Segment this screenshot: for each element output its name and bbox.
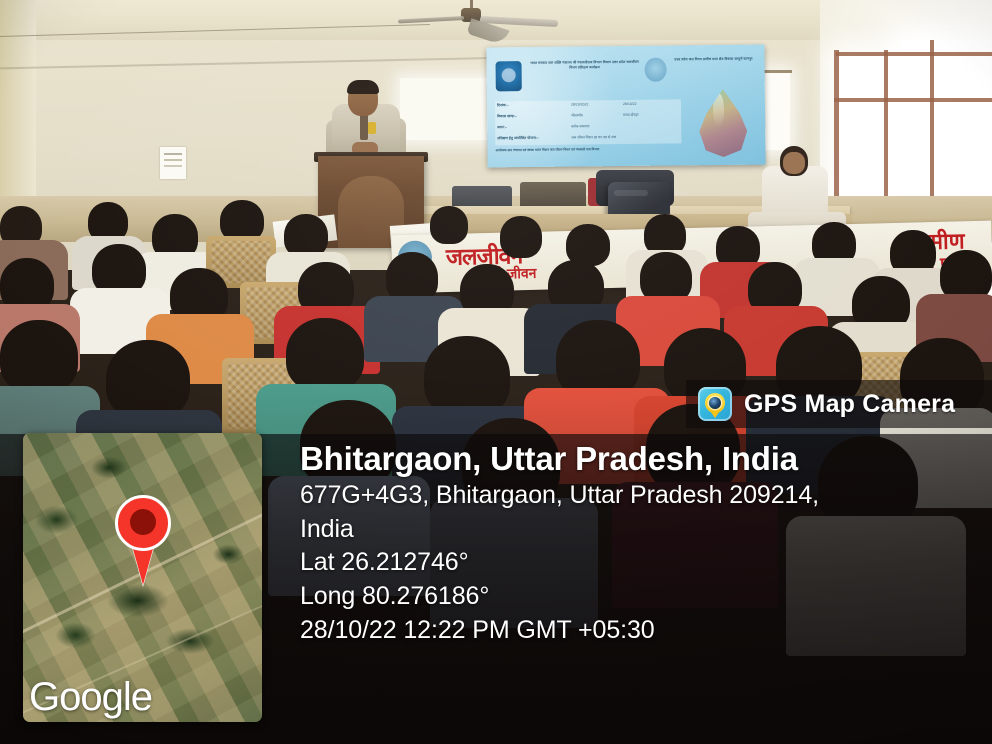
camera-lens-icon [709, 397, 721, 409]
map-pin-icon [115, 495, 171, 551]
address-line-1: 677G+4G3, Bhitargaon, Uttar Pradesh 2092… [300, 479, 980, 513]
water-drop-graphic-icon [697, 89, 750, 158]
speaker-id-badge [368, 122, 376, 134]
gps-map-camera-logo-icon [698, 387, 732, 421]
banner-title-text: भारत सरकार जल शक्ति मंत्रालय जी पंचायतीर… [527, 60, 643, 72]
banner-field-value-0: 28/10/2022 [571, 102, 589, 106]
window-frame [836, 52, 992, 56]
banner-field-label-2: स्थान:– [497, 125, 507, 130]
banner-footer-text: आयोजक ग्राम पंचायत एवं स्वच्छ भारत मिशन … [495, 146, 685, 153]
window [900, 40, 992, 220]
latitude-value: Lat 26.212746° [300, 546, 980, 580]
banner-field-label-1: विकास खण्ड:– [497, 114, 517, 119]
banner-field-value-1: भीतरगाँव [571, 113, 583, 118]
gps-map-camera-brand-bar: GPS Map Camera [686, 380, 992, 428]
timestamp-value: 28/10/22 12:22 PM GMT +05:30 [300, 614, 980, 648]
map-pin-dot [130, 509, 156, 535]
audience-head [0, 320, 78, 394]
speaker-tie [360, 114, 368, 140]
window-frame [834, 98, 992, 102]
window-frame [834, 50, 839, 210]
jal-jeevan-logo-icon [496, 61, 522, 91]
audience-head [106, 340, 190, 420]
banner-field-value2-0: 28/10/22 [623, 102, 637, 106]
window-frame [884, 50, 888, 210]
gps-map-camera-label: GPS Map Camera [744, 390, 955, 419]
government-emblem-icon [644, 58, 666, 82]
place-name: Bhitargaon, Uttar Pradesh, India [300, 440, 980, 479]
address-line-2: India [300, 513, 980, 547]
wall-notice-paper [160, 147, 186, 179]
gps-map-camera-photo: भारत सरकार जल शक्ति मंत्रालय जी पंचायतीर… [0, 0, 992, 744]
longitude-value: Long 80.276186° [300, 580, 980, 614]
speaker-hair [347, 80, 379, 94]
google-attribution: Google [29, 675, 152, 720]
official-face [783, 152, 805, 174]
window-frame [930, 40, 934, 220]
map-thumbnail[interactable]: Google [23, 433, 262, 722]
banner-field-label-3: प्रशिक्षण हेतु आयोजित योजना:– [497, 136, 539, 141]
audience-head [430, 206, 468, 244]
banner-org-text: उत्तर प्रदेश जल निगम ग्रामीण मध्य क्षेत्… [670, 57, 756, 63]
location-text-block: Bhitargaon, Uttar Pradesh, India 677G+4G… [300, 440, 980, 648]
banner-field-label-0: दिनांक:– [497, 103, 509, 108]
event-wall-banner: भारत सरकार जल शक्ति मंत्रालय जी पंचायतीर… [486, 45, 765, 168]
audience-head [286, 318, 364, 392]
audience-head [500, 216, 542, 258]
banner-field-value2-1: समय दोपहर [623, 113, 639, 118]
banner-field-value-2: ब्लॉक सभागार [571, 124, 589, 129]
